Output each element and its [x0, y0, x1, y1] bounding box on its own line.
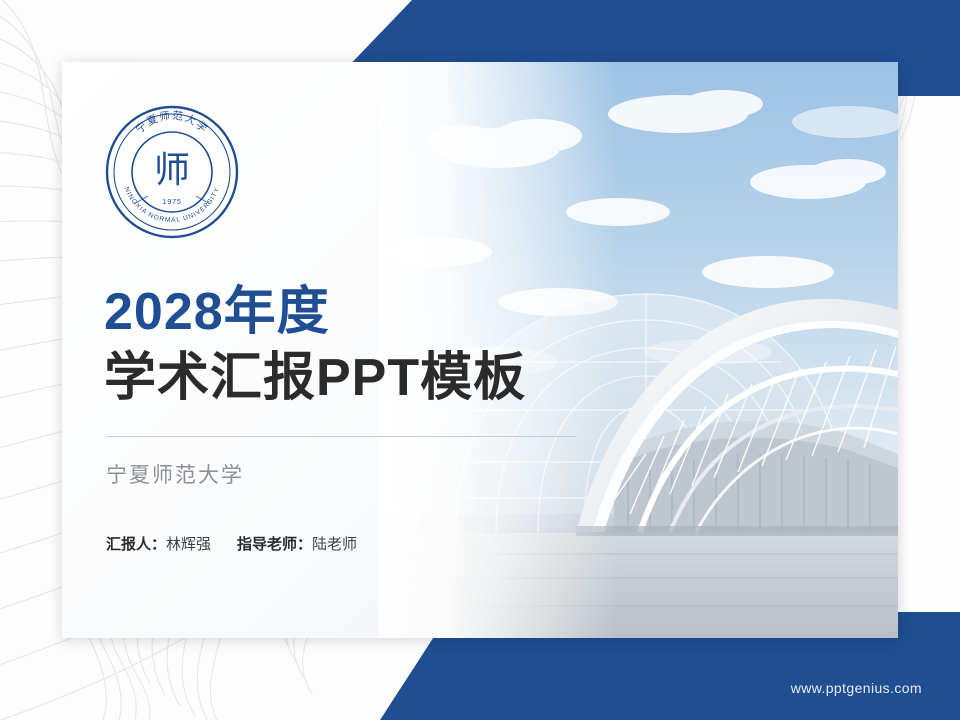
university-name: 宁夏师范大学: [106, 459, 624, 489]
university-logo: 宁夏师范大学 NINGXIA NORMAL UNIVERSITY 师 1975: [104, 104, 240, 240]
svg-text:师: 师: [154, 150, 190, 190]
presentation-slide: 宁夏师范大学 NINGXIA NORMAL UNIVERSITY 师 1975 …: [0, 0, 960, 720]
svg-text:1975: 1975: [162, 197, 181, 206]
footer-url: www.pptgenius.com: [791, 680, 922, 696]
advisor-label: 指导老师：: [237, 536, 312, 553]
presenter-label: 汇报人：: [106, 536, 166, 553]
title-divider: [106, 436, 576, 437]
presenter-meta: 汇报人：林辉强指导老师：陆老师: [106, 533, 624, 554]
advisor-name: 陆老师: [312, 536, 357, 553]
title-year: 2028年度: [104, 284, 624, 341]
title-main: 学术汇报PPT模板: [104, 347, 624, 409]
slide-card: 宁夏师范大学 NINGXIA NORMAL UNIVERSITY 师 1975 …: [62, 62, 898, 638]
title-block: 2028年度 学术汇报PPT模板 宁夏师范大学 汇报人：林辉强指导老师：陆老师: [104, 284, 624, 554]
presenter-name: 林辉强: [166, 536, 211, 553]
